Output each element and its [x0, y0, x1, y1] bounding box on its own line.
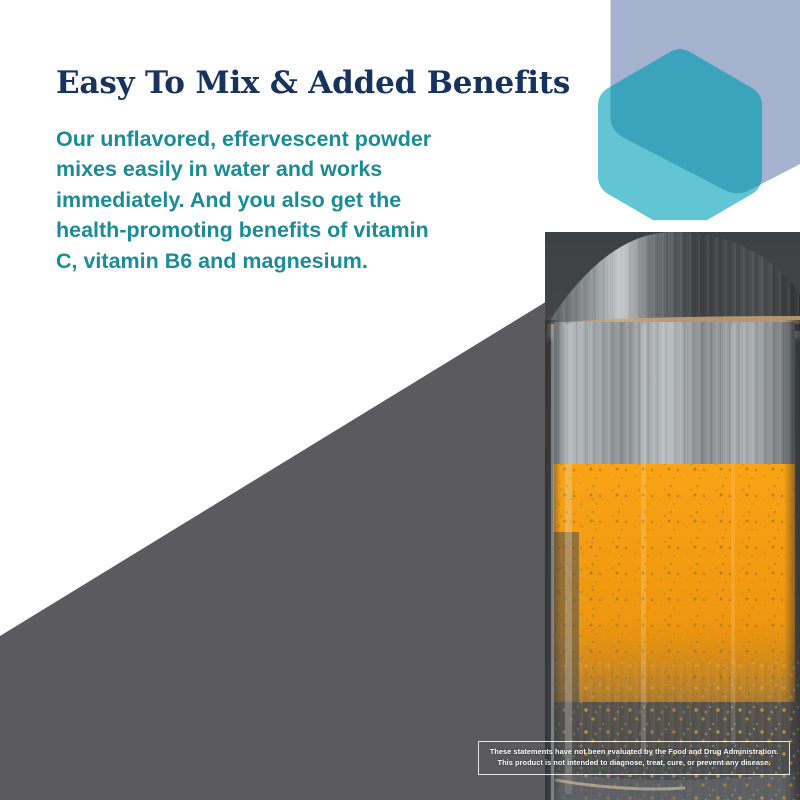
product-photo — [545, 232, 800, 800]
promo-canvas: Easy To Mix & Added Benefits Our unflavo… — [0, 0, 800, 800]
disclaimer-line-2: This product is not intended to diagnose… — [485, 757, 783, 768]
page-title: Easy To Mix & Added Benefits — [56, 66, 526, 102]
body-paragraph: Our unflavored, effervescent powder mixe… — [56, 102, 456, 277]
fda-disclaimer: These statements have not been evaluated… — [478, 741, 790, 775]
text-content-block: Easy To Mix & Added Benefits Our unflavo… — [56, 66, 526, 276]
disclaimer-line-1: These statements have not been evaluated… — [485, 746, 783, 757]
